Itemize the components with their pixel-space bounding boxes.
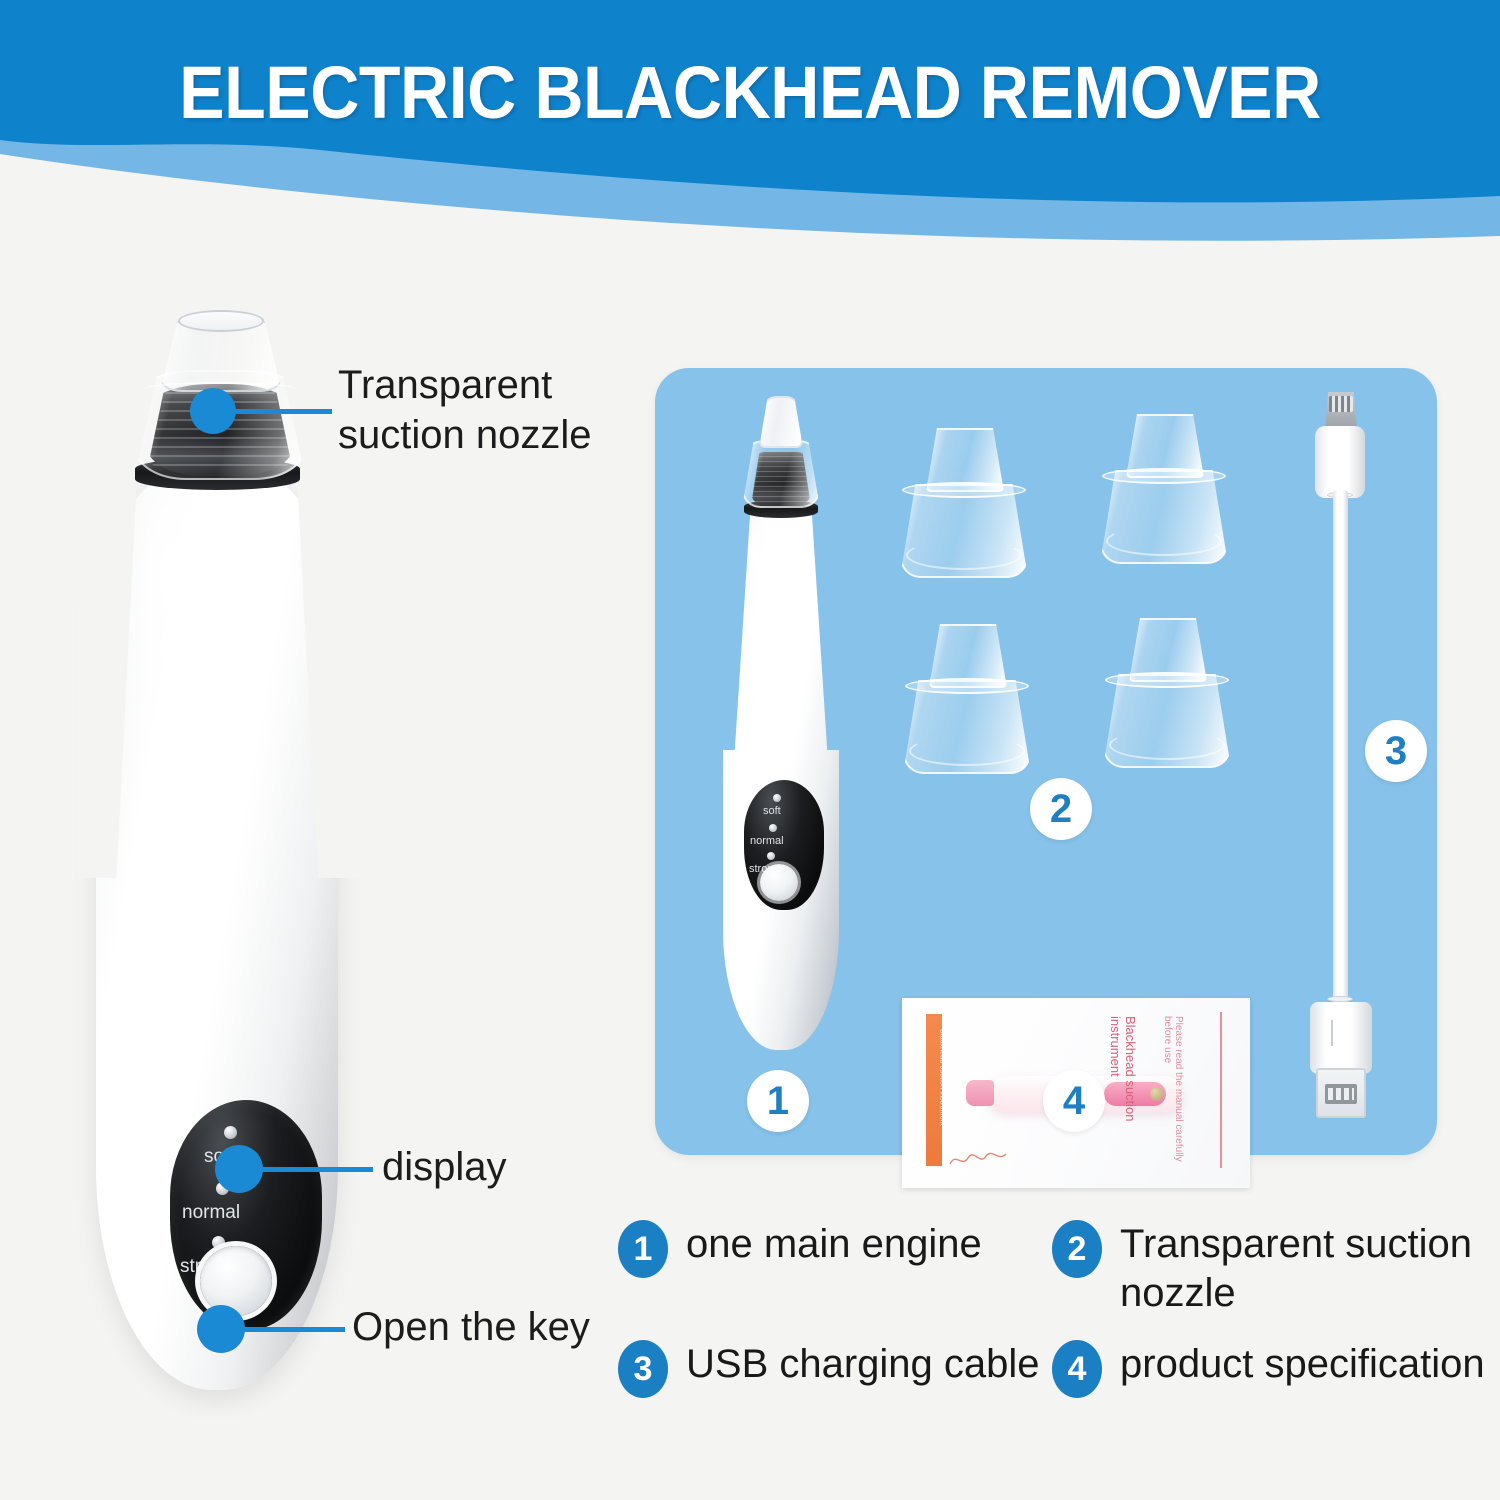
callout-label-open-key: Open the key (352, 1302, 590, 1352)
kit-nozzle-glass (742, 440, 820, 508)
leaflet-product-nozzle (966, 1080, 994, 1106)
legend-label-1: one main engine (686, 1220, 982, 1269)
kit-level-label-soft: soft (763, 805, 781, 817)
suction-nozzle-cap (903, 624, 1031, 774)
kit-contents-panel: soft normal strong (655, 368, 1437, 1155)
suction-nozzle-cap (900, 428, 1028, 578)
usb-trident-icon (1331, 1020, 1351, 1046)
kit-badge-1: 1 (747, 1070, 809, 1132)
cap-rim (905, 678, 1029, 694)
kit-device-display-panel: soft normal strong (744, 780, 824, 910)
leaflet-orange-strip: Blackhead suction instrument (926, 1014, 942, 1166)
micro-usb-pins (1329, 396, 1353, 412)
cap-bottom-arc (906, 540, 1022, 570)
leaflet-title-vertical: Blackhead suction instrument (1122, 1016, 1138, 1166)
cap-rim (1102, 468, 1226, 484)
cap-rim (1105, 672, 1229, 688)
cap-bottom-arc (1109, 730, 1225, 760)
callout-line-display (253, 1167, 373, 1172)
usb-a-contacts (1328, 1088, 1354, 1100)
device-display-panel: soft normal strong (170, 1100, 322, 1330)
callout-line-nozzle (228, 409, 332, 414)
leaflet-subtitle-vertical: Please read the manual carefully before … (1170, 1016, 1184, 1176)
leaflet-orange-strip-text: Blackhead suction instrument (939, 1008, 946, 1148)
callout-label-nozzle: Transparent suction nozzle (338, 360, 591, 460)
led-soft (224, 1126, 237, 1139)
kit-badge-4: 4 (1043, 1070, 1105, 1132)
kit-main-engine: soft normal strong (715, 390, 847, 1060)
cap-bottom-arc (1106, 526, 1222, 556)
legend-label-2: Transparent suction nozzle (1120, 1220, 1498, 1318)
usb-cable-wire (1333, 490, 1348, 1018)
main-device-illustration: soft normal strong (78, 300, 358, 1400)
suction-nozzle-cap (1100, 414, 1228, 564)
page-title: ELECTRIC BLACKHEAD REMOVER (60, 50, 1440, 135)
callout-line-open-key (235, 1327, 345, 1332)
cap-bottom-arc (909, 736, 1025, 766)
legend-badge-1: 1 (618, 1220, 668, 1278)
cap-rim (902, 482, 1026, 498)
legend-badge-4: 4 (1052, 1340, 1102, 1398)
nozzle-top-lip (178, 310, 264, 332)
kit-power-button (760, 864, 798, 901)
suction-nozzle-cap (1103, 618, 1231, 768)
kit-legend: 1 one main engine 2 Transparent suction … (618, 1216, 1498, 1416)
legend-item-2: 2 Transparent suction nozzle (1052, 1220, 1498, 1318)
leaflet-squiggle (948, 1146, 1008, 1168)
leaflet-product-button-dot (1150, 1087, 1164, 1101)
kit-badge-2: 2 (1030, 778, 1092, 840)
level-label-normal: normal (182, 1202, 240, 1224)
kit-led-normal (769, 824, 777, 832)
legend-label-4: product specification (1120, 1340, 1485, 1389)
callout-label-display: display (382, 1142, 507, 1192)
legend-item-4: 4 product specification (1052, 1340, 1498, 1398)
legend-item-1: 1 one main engine (618, 1220, 1018, 1278)
leaflet-pink-rule (1220, 1012, 1222, 1168)
legend-item-3: 3 USB charging cable (618, 1340, 1048, 1398)
legend-badge-3: 3 (618, 1340, 668, 1398)
power-button[interactable] (200, 1246, 272, 1316)
legend-badge-2: 2 (1052, 1220, 1102, 1278)
kit-nozzle-tip (759, 396, 803, 448)
kit-led-strong (767, 852, 775, 860)
header-banner: ELECTRIC BLACKHEAD REMOVER (0, 0, 1500, 250)
kit-level-label-normal: normal (750, 835, 784, 847)
legend-label-3: USB charging cable (686, 1340, 1040, 1389)
micro-usb-housing (1315, 426, 1365, 498)
kit-led-soft (773, 794, 781, 802)
kit-badge-3: 3 (1365, 720, 1427, 782)
